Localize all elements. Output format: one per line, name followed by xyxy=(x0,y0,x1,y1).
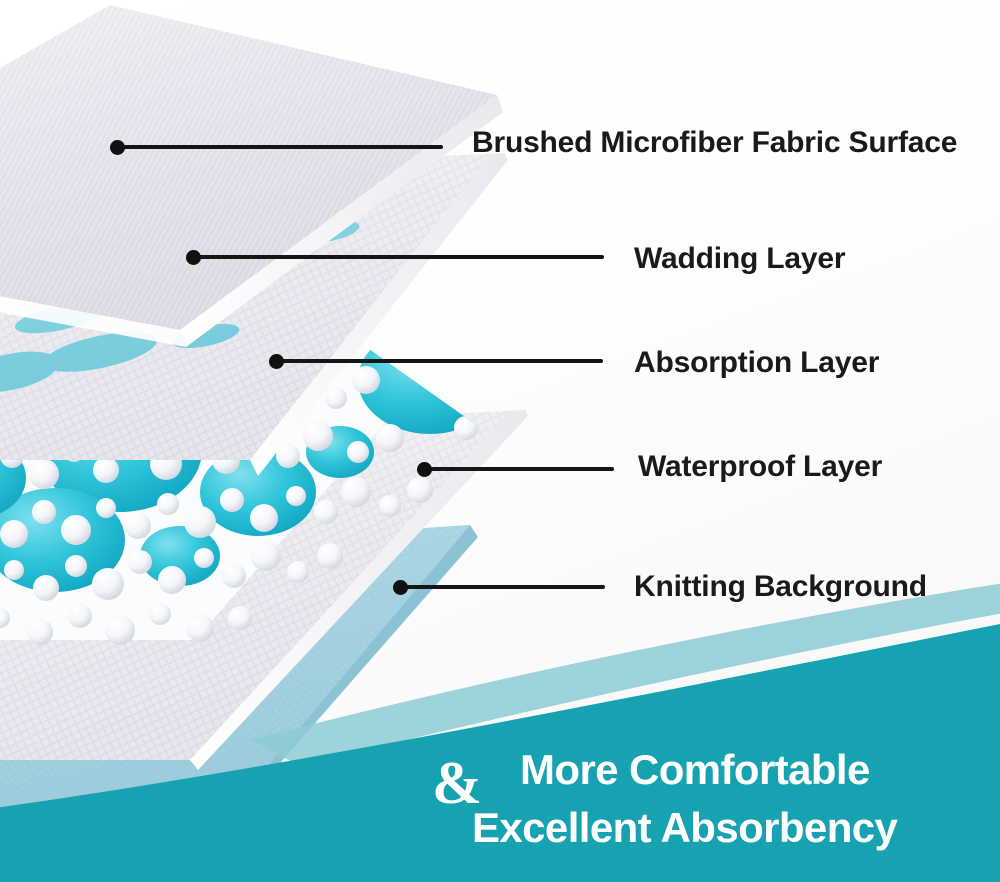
leader-line-absorption-layer xyxy=(276,359,603,363)
leader-dot-1 xyxy=(110,140,125,155)
leader-dot-4 xyxy=(417,462,432,477)
layer-label-absorption-layer: Absorption Layer xyxy=(634,348,879,378)
leader-dot-3 xyxy=(269,354,284,369)
leader-dot-2 xyxy=(186,250,201,265)
layer-label-brushed-microfiber-fabric-surface: Brushed Microfiber Fabric Surface xyxy=(472,128,957,158)
banner-line-2: Excellent Absorbency xyxy=(472,807,897,849)
leader-line-brushed-microfiber-fabric-surface xyxy=(117,145,443,149)
infographic-canvas: Brushed Microfiber Fabric Surface Waddin… xyxy=(0,0,1000,882)
layer-label-wadding-layer: Wadding Layer xyxy=(634,244,845,274)
layer-label-waterproof-layer: Waterproof Layer xyxy=(638,452,882,482)
leader-line-waterproof-layer xyxy=(424,467,614,471)
leader-line-wadding-layer xyxy=(193,255,604,259)
banner-text-block: & More Comfortable Excellent Absorbency xyxy=(432,745,992,870)
banner-line-1: More Comfortable xyxy=(520,749,870,791)
